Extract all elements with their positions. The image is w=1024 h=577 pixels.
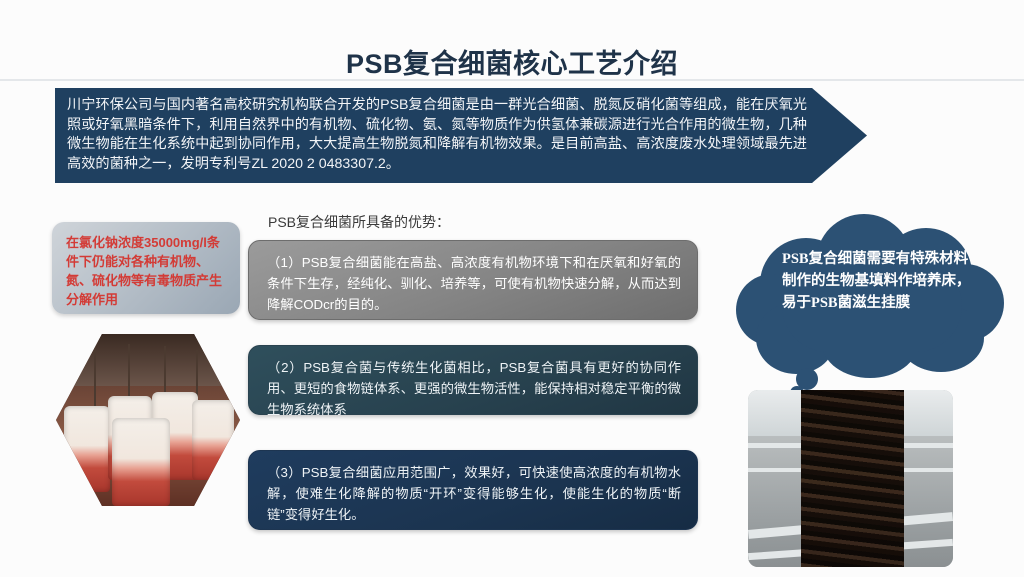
- advantage-card-1: （1）PSB复合细菌能在高盐、高浓度有机物环境下和在厌氧和好氧的条件下生存，经纯…: [248, 240, 698, 320]
- vessel: [112, 418, 170, 506]
- fermentation-vessels-photo: [56, 334, 240, 506]
- bio-filler-column: [801, 390, 904, 567]
- intro-banner: 川宁环保公司与国内著名高校研究机构联合开发的PSB复合细菌是由一群光合细菌、脱氮…: [55, 88, 867, 183]
- advantage-card-3-text: （3）PSB复合细菌应用范围广，效果好，可快速使高浓度的有机物水解，使难生化降解…: [267, 462, 681, 525]
- salinity-callout-text: 在氯化钠浓度35000mg/l条件下仍能对各种有机物、氮、硫化物等有毒物质产生分…: [66, 233, 226, 309]
- salinity-callout: 在氯化钠浓度35000mg/l条件下仍能对各种有机物、氮、硫化物等有毒物质产生分…: [52, 222, 240, 314]
- photo-content: [56, 334, 240, 506]
- banner-text: 川宁环保公司与国内著名高校研究机构联合开发的PSB复合细菌是由一群光合细菌、脱氮…: [67, 96, 807, 174]
- vessel: [192, 400, 234, 480]
- thought-cloud: PSB复合细菌需要有特殊材料制作的生物基填料作培养床，易于PSB菌滋生挂膜: [730, 212, 1016, 382]
- slide-root: PSB复合细菌核心工艺介绍 川宁环保公司与国内著名高校研究机构联合开发的PSB复…: [0, 0, 1024, 577]
- title-divider: [0, 79, 1024, 81]
- advantage-card-1-text: （1）PSB复合细菌能在高盐、高浓度有机物环境下和在厌氧和好氧的条件下生存，经纯…: [267, 252, 681, 315]
- advantages-heading: PSB复合细菌所具备的优势：: [268, 212, 450, 232]
- thought-cloud-text: PSB复合细菌需要有特殊材料制作的生物基填料作培养床，易于PSB菌滋生挂膜: [782, 248, 972, 314]
- advantage-card-2-text: （2）PSB复合菌与传统生化菌相比，PSB复合菌具有更好的协同作用、更短的食物链…: [267, 357, 681, 420]
- page-title: PSB复合细菌核心工艺介绍: [0, 42, 1024, 81]
- bio-carrier-filler-photo: [748, 390, 953, 567]
- advantage-card-2: （2）PSB复合菌与传统生化菌相比，PSB复合菌具有更好的协同作用、更短的食物链…: [248, 345, 698, 415]
- vessel: [64, 406, 110, 492]
- advantage-card-3: （3）PSB复合细菌应用范围广，效果好，可快速使高浓度的有机物水解，使难生化降解…: [248, 450, 698, 530]
- photo-ceiling: [56, 334, 240, 386]
- vessel-rod: [94, 348, 96, 412]
